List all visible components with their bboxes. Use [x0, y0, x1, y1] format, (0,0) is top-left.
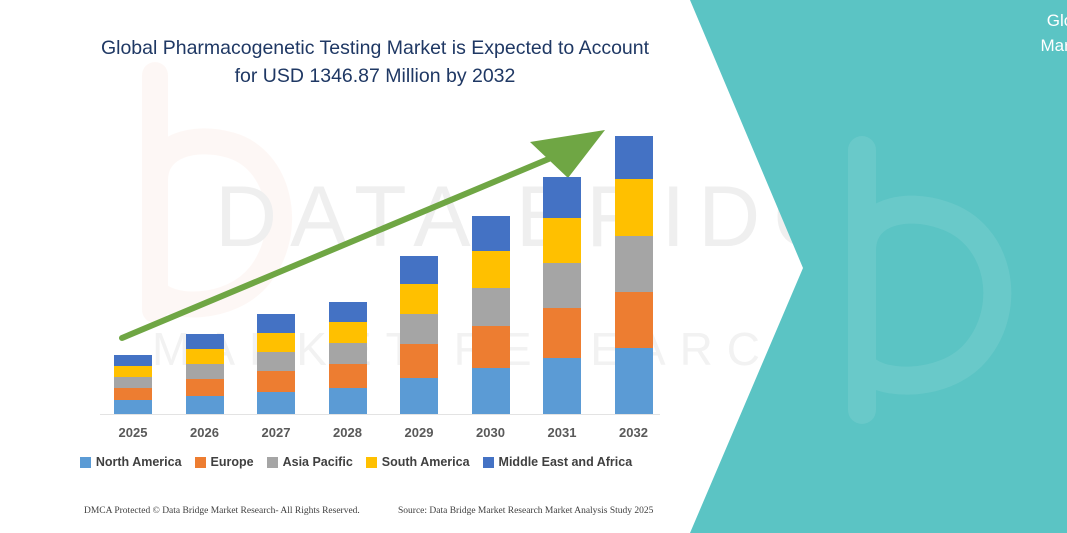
bar-segment-europe — [400, 344, 438, 378]
bar-segment-europe — [257, 371, 295, 392]
bar-segment-europe — [543, 308, 581, 358]
x-axis-tick-2026: 2026 — [175, 425, 235, 440]
bar-segment-middle-east-and-africa — [186, 334, 224, 349]
panel-title-line-2: Market, By Regions, 2025 to 2032 — [1019, 33, 1067, 58]
bar-segment-middle-east-and-africa — [615, 136, 653, 179]
bar-segment-asia-pacific — [472, 288, 510, 326]
x-axis-tick-2030: 2030 — [461, 425, 521, 440]
bar-2025 — [114, 355, 152, 414]
panel-title: Global Pharmacogenetic Testing Market, B… — [1019, 8, 1067, 58]
x-axis-tick-2029: 2029 — [389, 425, 449, 440]
panel-title-line-1: Global Pharmacogenetic Testing — [1019, 8, 1067, 33]
bar-segment-europe — [329, 364, 367, 388]
legend-item-north-america[interactable]: North America — [80, 455, 182, 469]
bar-segment-south-america — [400, 284, 438, 314]
legend-label: Middle East and Africa — [499, 455, 633, 469]
bar-segment-asia-pacific — [114, 377, 152, 388]
bar-2028 — [329, 302, 367, 414]
legend-swatch-icon — [80, 457, 91, 468]
bar-segment-asia-pacific — [615, 236, 653, 292]
x-axis: 20252026202720282029203020312032 — [0, 425, 712, 445]
chart-plot-area — [0, 0, 712, 420]
footer: DMCA Protected © Data Bridge Market Rese… — [0, 506, 712, 526]
bar-segment-europe — [114, 388, 152, 400]
bar-segment-europe — [615, 292, 653, 348]
bar-segment-asia-pacific — [186, 364, 224, 379]
bar-segment-middle-east-and-africa — [114, 355, 152, 366]
bar-segment-south-america — [615, 179, 653, 236]
legend-label: North America — [96, 455, 182, 469]
bar-segment-middle-east-and-africa — [329, 302, 367, 322]
x-axis-tick-2025: 2025 — [103, 425, 163, 440]
bar-segment-middle-east-and-africa — [472, 216, 510, 251]
bar-segment-south-america — [472, 251, 510, 288]
bar-segment-middle-east-and-africa — [400, 256, 438, 284]
bar-2032 — [615, 136, 653, 414]
chart-legend: North AmericaEuropeAsia PacificSouth Ame… — [0, 455, 712, 469]
bar-segment-south-america — [186, 349, 224, 364]
bar-segment-asia-pacific — [543, 263, 581, 308]
x-axis-tick-2031: 2031 — [532, 425, 592, 440]
panel-brand-line-1: DATA BRIDGE MARKET — [1057, 241, 1067, 269]
legend-label: Asia Pacific — [283, 455, 353, 469]
bar-2031 — [543, 177, 581, 414]
footer-source: Source: Data Bridge Market Research Mark… — [398, 506, 653, 516]
bar-segment-north-america — [400, 378, 438, 414]
panel-brand-text: DATA BRIDGE MARKET RESEARCH — [1057, 241, 1067, 297]
bar-2030 — [472, 216, 510, 414]
bar-segment-europe — [186, 379, 224, 396]
panel-brand-line-2: RESEARCH — [1057, 269, 1067, 297]
legend-swatch-icon — [195, 457, 206, 468]
bar-segment-north-america — [186, 396, 224, 414]
bar-2027 — [257, 314, 295, 414]
bar-2029 — [400, 256, 438, 414]
legend-item-europe[interactable]: Europe — [195, 455, 254, 469]
bar-segment-asia-pacific — [257, 352, 295, 371]
bar-segment-north-america — [472, 368, 510, 414]
infographic-root: DATA BRIDGE MARKET RESEARCH Global Pharm… — [0, 0, 1067, 533]
x-axis-tick-2032: 2032 — [604, 425, 664, 440]
legend-item-south-america[interactable]: South America — [366, 455, 470, 469]
bar-segment-south-america — [543, 218, 581, 263]
panel-shape-main — [667, 0, 1067, 533]
bar-segment-asia-pacific — [400, 314, 438, 344]
bar-segment-south-america — [257, 333, 295, 352]
bar-segment-middle-east-and-africa — [257, 314, 295, 333]
bar-segment-asia-pacific — [329, 343, 367, 364]
bar-2026 — [186, 334, 224, 414]
x-axis-tick-2027: 2027 — [246, 425, 306, 440]
legend-label: Europe — [211, 455, 254, 469]
bar-segment-north-america — [543, 358, 581, 414]
legend-swatch-icon — [267, 457, 278, 468]
x-axis-tick-2028: 2028 — [318, 425, 378, 440]
legend-swatch-icon — [366, 457, 377, 468]
legend-item-asia-pacific[interactable]: Asia Pacific — [267, 455, 353, 469]
bar-segment-south-america — [114, 366, 152, 377]
bar-segment-north-america — [257, 392, 295, 414]
chart-baseline — [100, 414, 660, 415]
bar-segment-south-america — [329, 322, 367, 343]
bar-segment-north-america — [615, 348, 653, 414]
footer-copyright: DMCA Protected © Data Bridge Market Rese… — [84, 506, 360, 516]
bar-segment-middle-east-and-africa — [543, 177, 581, 218]
bar-segment-north-america — [329, 388, 367, 414]
brand-panel: Global Pharmacogenetic Testing Market, B… — [667, 0, 1067, 533]
bar-segment-north-america — [114, 400, 152, 414]
legend-swatch-icon — [483, 457, 494, 468]
legend-item-middle-east-and-africa[interactable]: Middle East and Africa — [483, 455, 633, 469]
bar-segment-europe — [472, 326, 510, 368]
legend-label: South America — [382, 455, 470, 469]
